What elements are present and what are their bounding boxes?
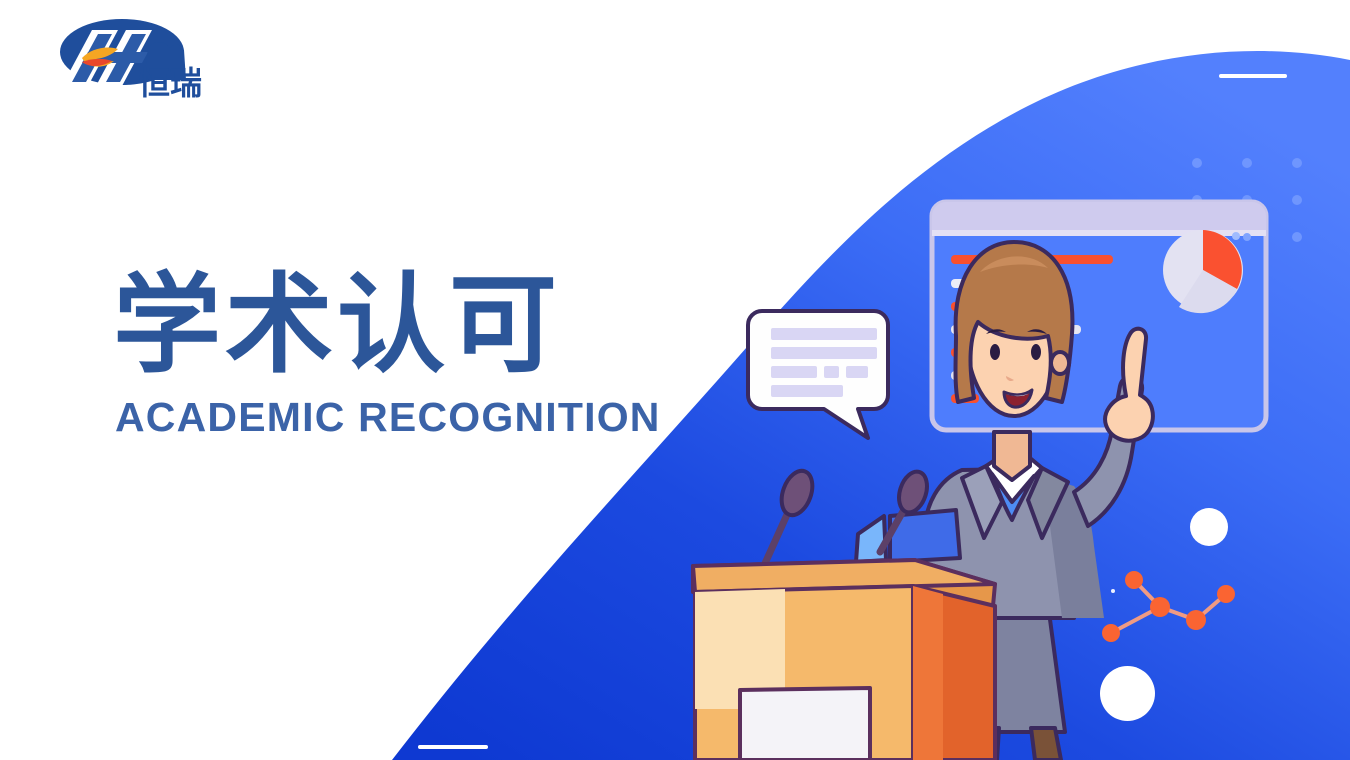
hengrui-logo: 恒瑞 xyxy=(48,14,208,100)
logo-text-cn: 恒瑞 xyxy=(138,64,202,100)
page-title: 学术认可 xyxy=(113,272,733,380)
page-subtitle: ACADEMIC RECOGNITION xyxy=(115,394,733,441)
slide-root: 恒瑞 学术认可 ACADEMIC RECOGNITION xyxy=(0,0,1350,760)
headline-block: 学术认可 ACADEMIC RECOGNITION xyxy=(113,272,733,441)
